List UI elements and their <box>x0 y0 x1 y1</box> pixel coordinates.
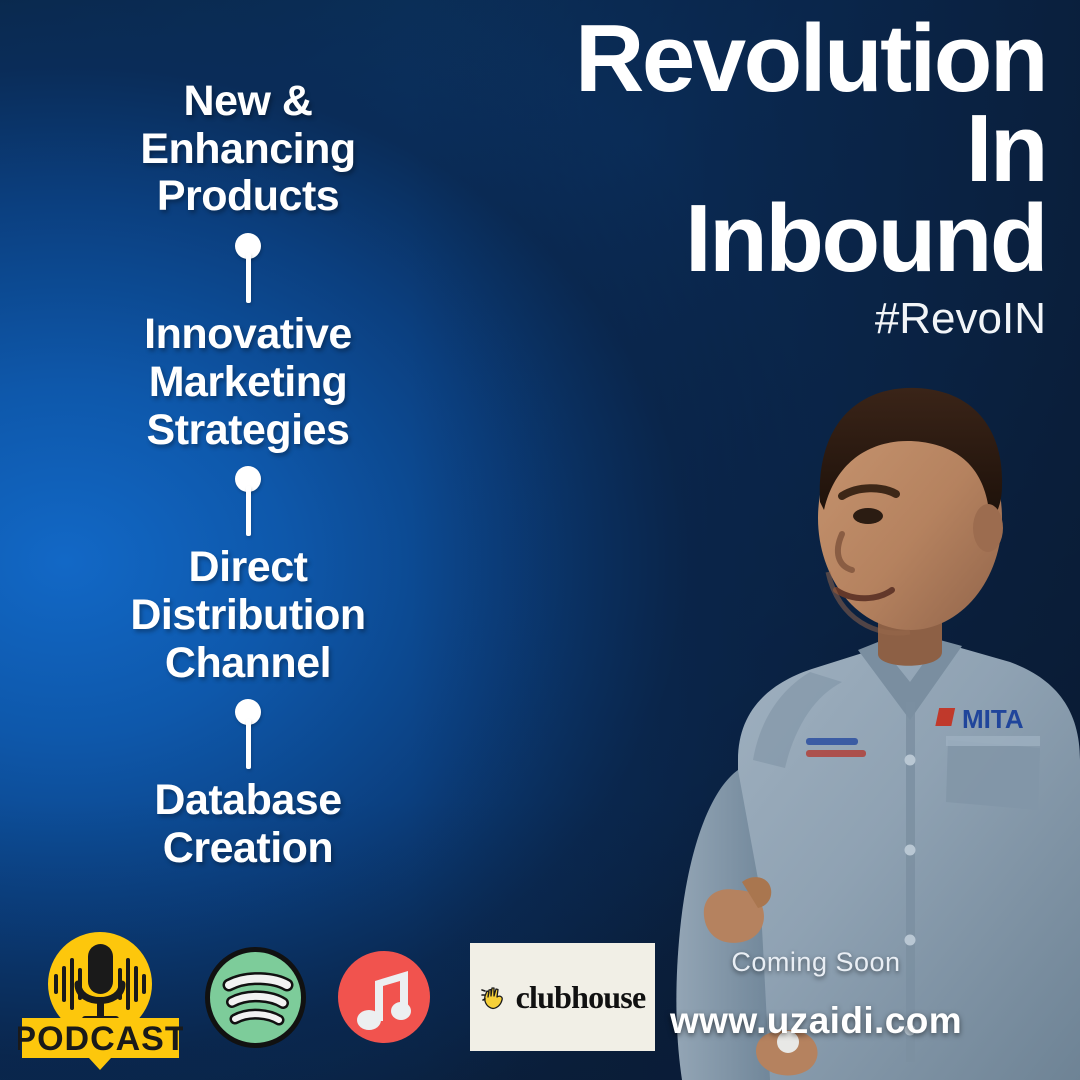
cta-block: Coming Soon www.uzaidi.com <box>670 947 962 1042</box>
clubhouse-wordmark: clubhouse <box>516 979 646 1016</box>
title-line-2: In <box>406 104 1046 194</box>
coming-soon-label: Coming Soon <box>670 947 962 978</box>
shirt-logo-text: MITA <box>962 704 1024 734</box>
timeline-connector-2 <box>48 454 448 544</box>
timeline-connector-1 <box>48 221 448 311</box>
timeline-line <box>246 486 251 536</box>
platform-icon-row: PODCAST <box>18 922 655 1072</box>
apple-music-icon[interactable] <box>336 949 432 1045</box>
timeline-item-label: Innovative Marketing Strategies <box>48 311 448 454</box>
spotify-icon[interactable] <box>203 945 308 1050</box>
clubhouse-logo[interactable]: clubhouse <box>470 943 655 1051</box>
title-block: Revolution In Inbound #RevoIN <box>406 14 1046 341</box>
timeline-item-3: Direct Distribution Channel <box>48 544 448 687</box>
timeline-item-label: New & Enhancing Products <box>48 78 448 221</box>
timeline-item-label: Direct Distribution Channel <box>48 544 448 687</box>
podcast-badge-label: PODCAST <box>18 1020 183 1058</box>
title-line-3: Inbound <box>406 194 1046 284</box>
timeline-item-label: Database Creation <box>48 777 448 872</box>
title-line-1: Revolution <box>406 14 1046 104</box>
timeline-line <box>246 253 251 303</box>
waving-hand-icon <box>480 982 510 1012</box>
feature-timeline: New & Enhancing Products Innovative Mark… <box>48 78 448 873</box>
poster-canvas: MITA <box>0 0 1080 1080</box>
hashtag-label: #RevoIN <box>406 297 1046 341</box>
timeline-item-2: Innovative Marketing Strategies <box>48 311 448 454</box>
timeline-item-4: Database Creation <box>48 777 448 872</box>
timeline-connector-3 <box>48 687 448 777</box>
podcast-badge-icon[interactable]: PODCAST <box>18 922 183 1072</box>
timeline-line <box>246 719 251 769</box>
timeline-item-1: New & Enhancing Products <box>48 78 448 221</box>
website-url[interactable]: www.uzaidi.com <box>670 1000 962 1042</box>
